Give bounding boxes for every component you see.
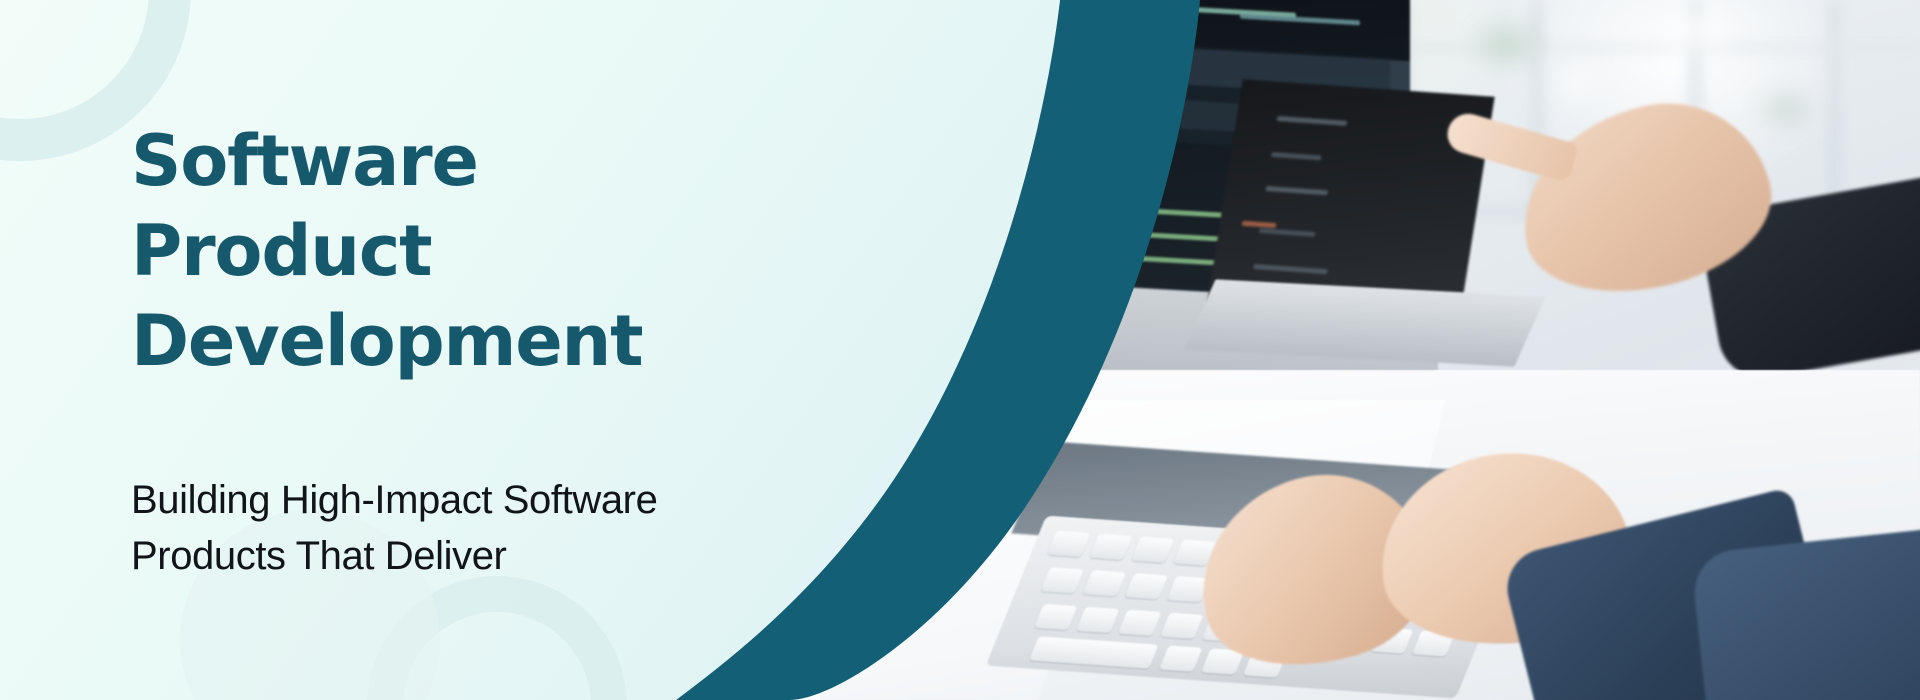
hero-text-block: Software Product Development Building Hi… — [131, 0, 771, 700]
hero-banner: Software Product Development Building Hi… — [0, 0, 1920, 700]
page-title: Software Product Development — [131, 116, 711, 386]
page-subtitle: Building High-Impact Software Products T… — [131, 472, 731, 584]
